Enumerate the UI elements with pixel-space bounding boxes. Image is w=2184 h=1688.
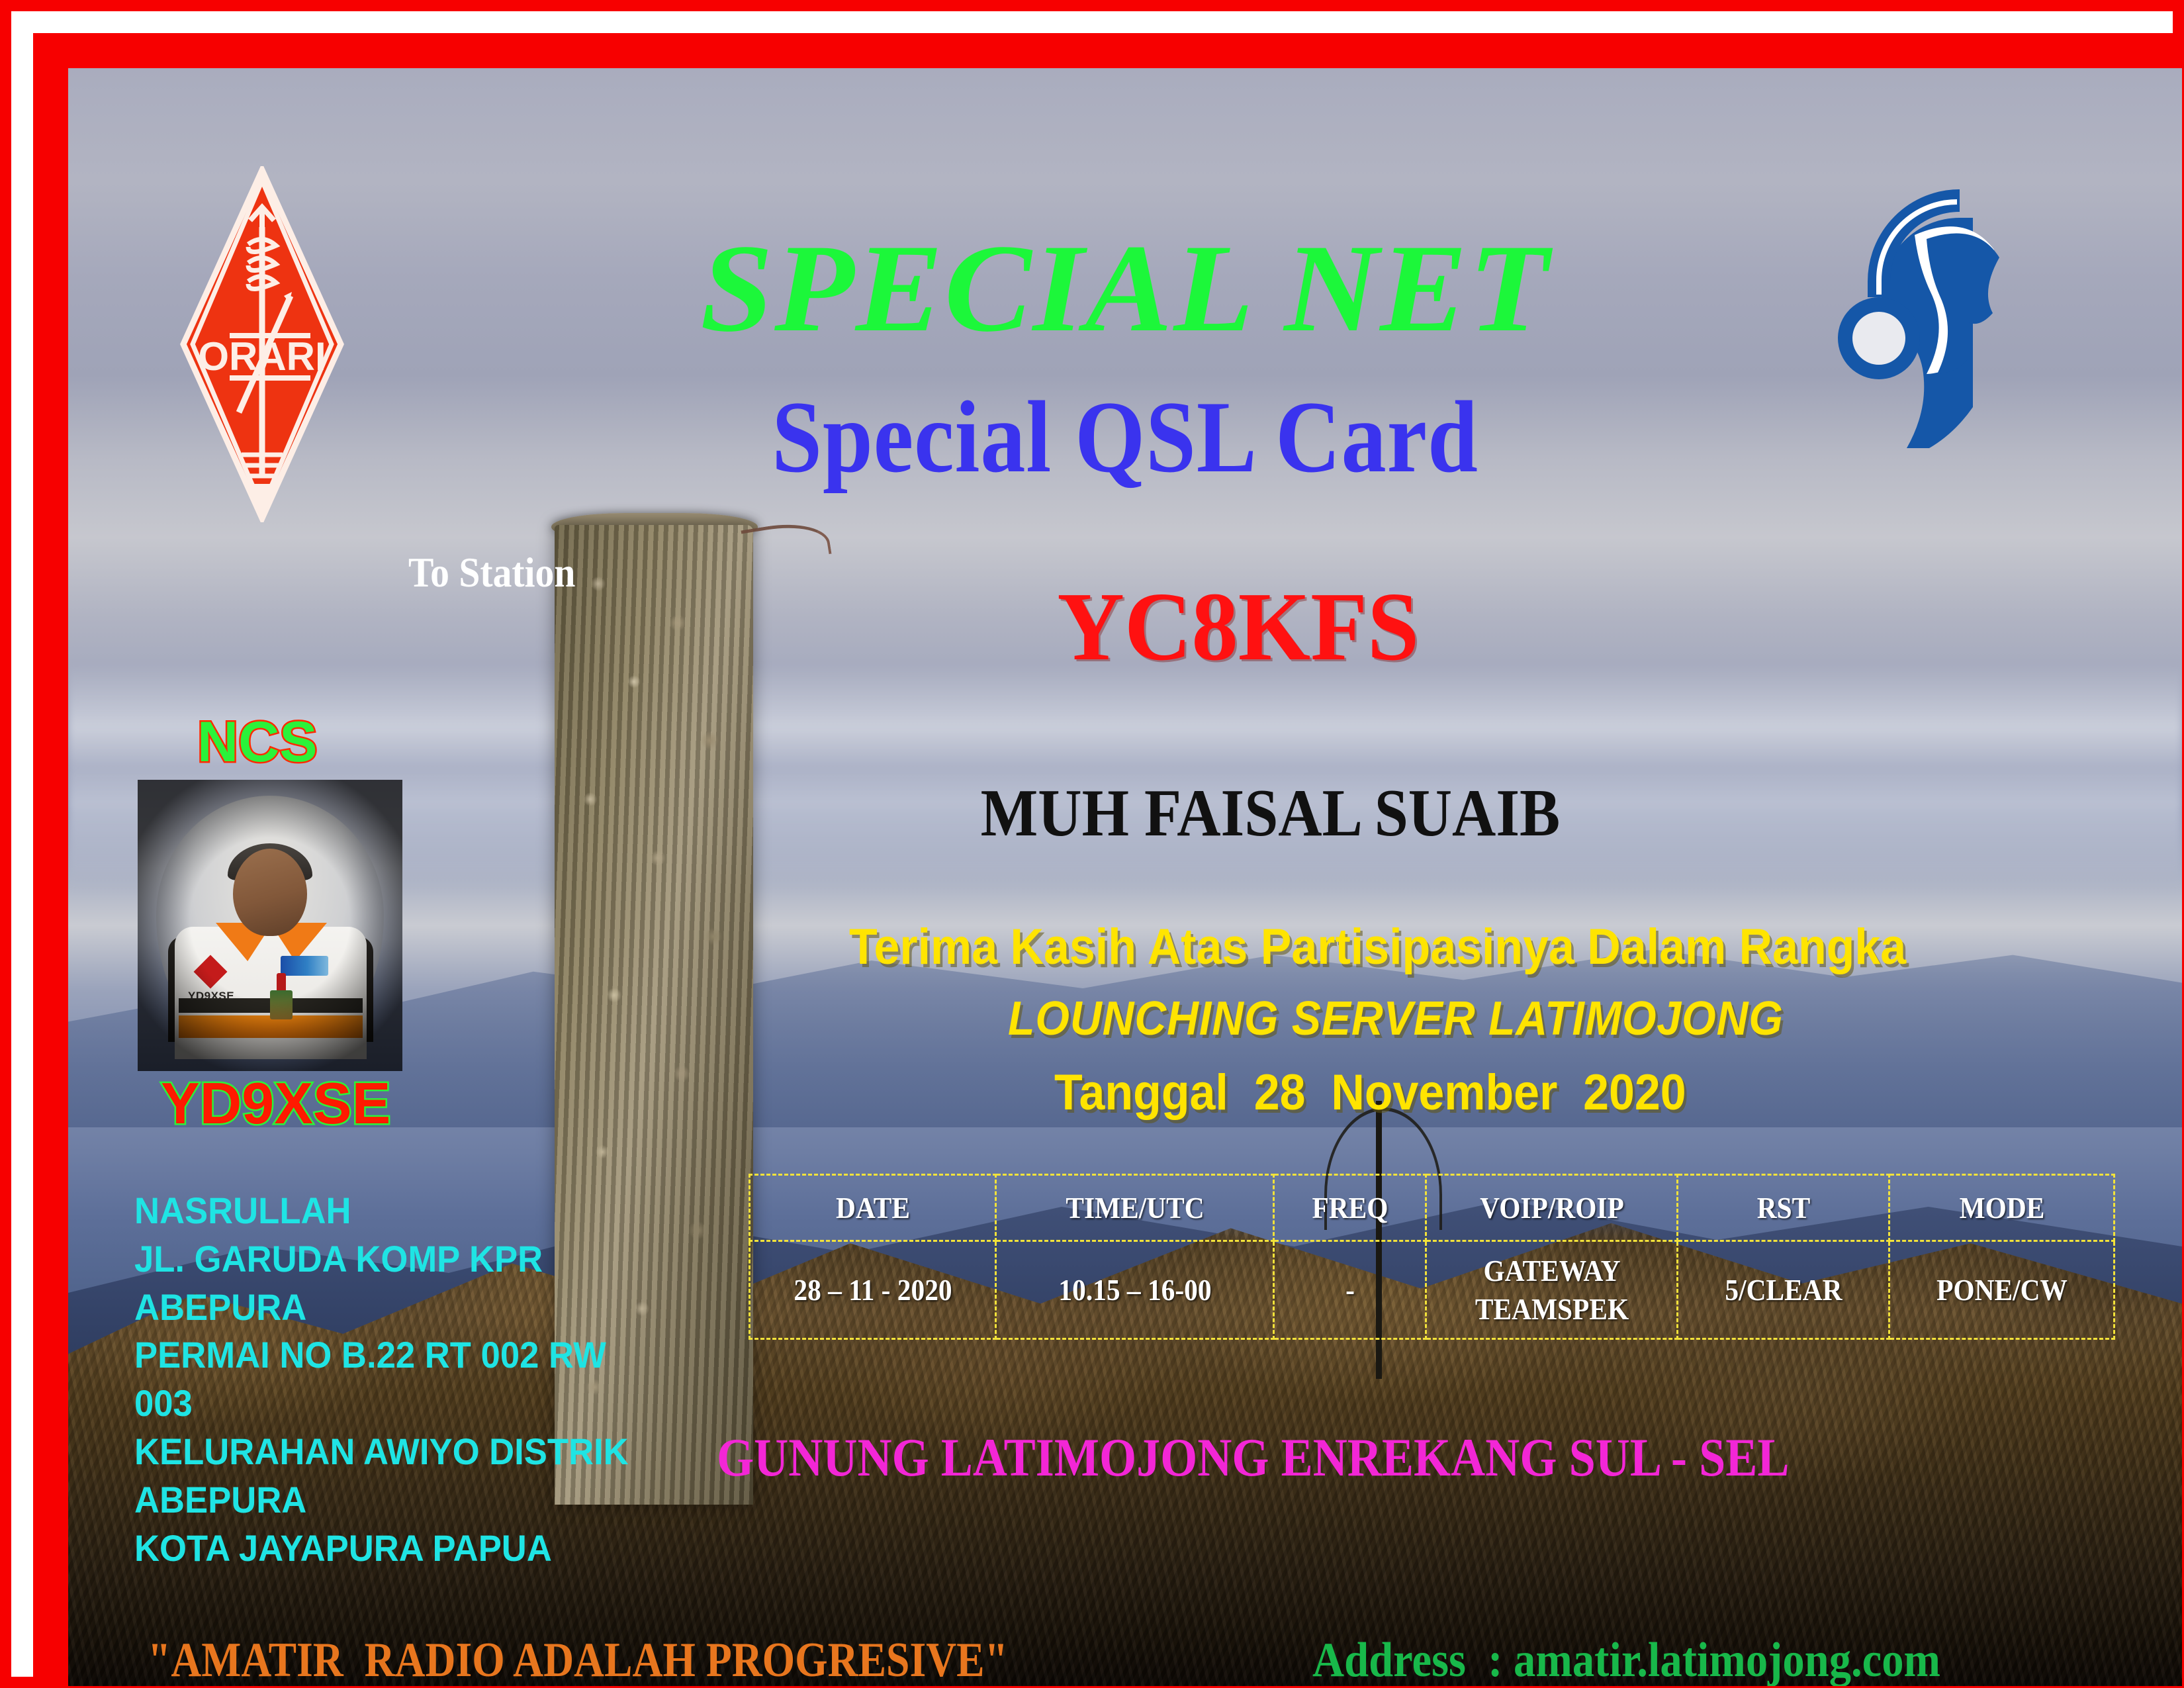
cell-date: 28 – 11 - 2020 (762, 1241, 983, 1339)
cell-freq: - (1281, 1241, 1418, 1339)
cell-rst: 5/CLEAR (1688, 1241, 1879, 1339)
to-station-label: To Station (408, 551, 575, 594)
table-header-freq: FREQ (1281, 1175, 1418, 1241)
table-header-mode: MODE (1901, 1175, 2103, 1241)
table-header-time: TIME/UTC (1010, 1175, 1260, 1241)
address-line: NASRULLAH (134, 1187, 669, 1235)
photo-vignette (138, 780, 402, 1071)
ncs-address-block: NASRULLAH JL. GARUDA KOMP KPR ABEPURA PE… (134, 1187, 704, 1572)
event-date-line: Tanggal 28 November 2020 (1054, 1068, 1686, 1118)
address-line: ABEPURA (134, 1476, 669, 1524)
address-line: KELURAHAN AWIYO DISTRIK (134, 1428, 669, 1476)
footer-web-address: Address : amatir.latimojong.com (1312, 1636, 1940, 1685)
table-header-date: DATE (762, 1175, 983, 1241)
ncs-operator-photo: YD9XSE (138, 780, 402, 1071)
cell-mode: PONE/CW (1901, 1241, 2103, 1339)
ncs-callsign: YD9XSE (161, 1074, 390, 1133)
cell-voip-line1: GATEWAY (1439, 1252, 1664, 1290)
address-line: KOTA JAYAPURA PAPUA (134, 1524, 669, 1573)
qsl-card-outer-border: ORARI (0, 0, 2184, 1688)
cell-voip: GATEWAY TEAMSPEK (1439, 1241, 1665, 1339)
address-line: JL. GARUDA KOMP KPR (134, 1235, 669, 1284)
qsl-card-canvas: ORARI (68, 68, 2182, 1686)
address-line: ABEPURA (134, 1284, 669, 1332)
station-callsign: YC8KFS (1057, 578, 1419, 676)
address-line: PERMAI NO B.22 RT 002 RW 003 (134, 1331, 669, 1428)
page-subtitle-special-qsl-card: Special QSL Card (195, 386, 2056, 489)
qsl-card-white-gap: ORARI (11, 11, 2173, 1677)
page-title-special-net: SPECIAL NET (68, 226, 2182, 352)
event-name-line: LOUNCHING SERVER LATIMOJONG (1008, 995, 1784, 1043)
table-header-row: DATE TIME/UTC FREQ VOIP/ROIP RST MODE (750, 1175, 2115, 1241)
event-location: GUNUNG LATIMOJONG ENREKANG SUL - SEL (717, 1430, 1789, 1485)
cell-voip-line2: TEAMSPEK (1439, 1290, 1664, 1329)
cell-time: 10.15 – 16-00 (1010, 1241, 1260, 1339)
qso-log-table: DATE TIME/UTC FREQ VOIP/ROIP RST MODE 28… (749, 1174, 2115, 1340)
table-row: 28 – 11 - 2020 10.15 – 16-00 - GATEWAY T… (750, 1241, 2115, 1339)
operator-name: MUH FAISAL SUAIB (981, 780, 1561, 847)
footer-motto: "AMATIR RADIO ADALAH PROGRESIVE" (148, 1636, 1008, 1685)
event-thanks-line: Terima Kasih Atas Partisipasinya Dalam R… (849, 922, 1906, 972)
table-header-rst: RST (1688, 1175, 1879, 1241)
qsl-card-inner-border: ORARI (33, 33, 2173, 1677)
ncs-label: NCS (197, 714, 318, 771)
table-header-voip: VOIP/ROIP (1439, 1175, 1665, 1241)
